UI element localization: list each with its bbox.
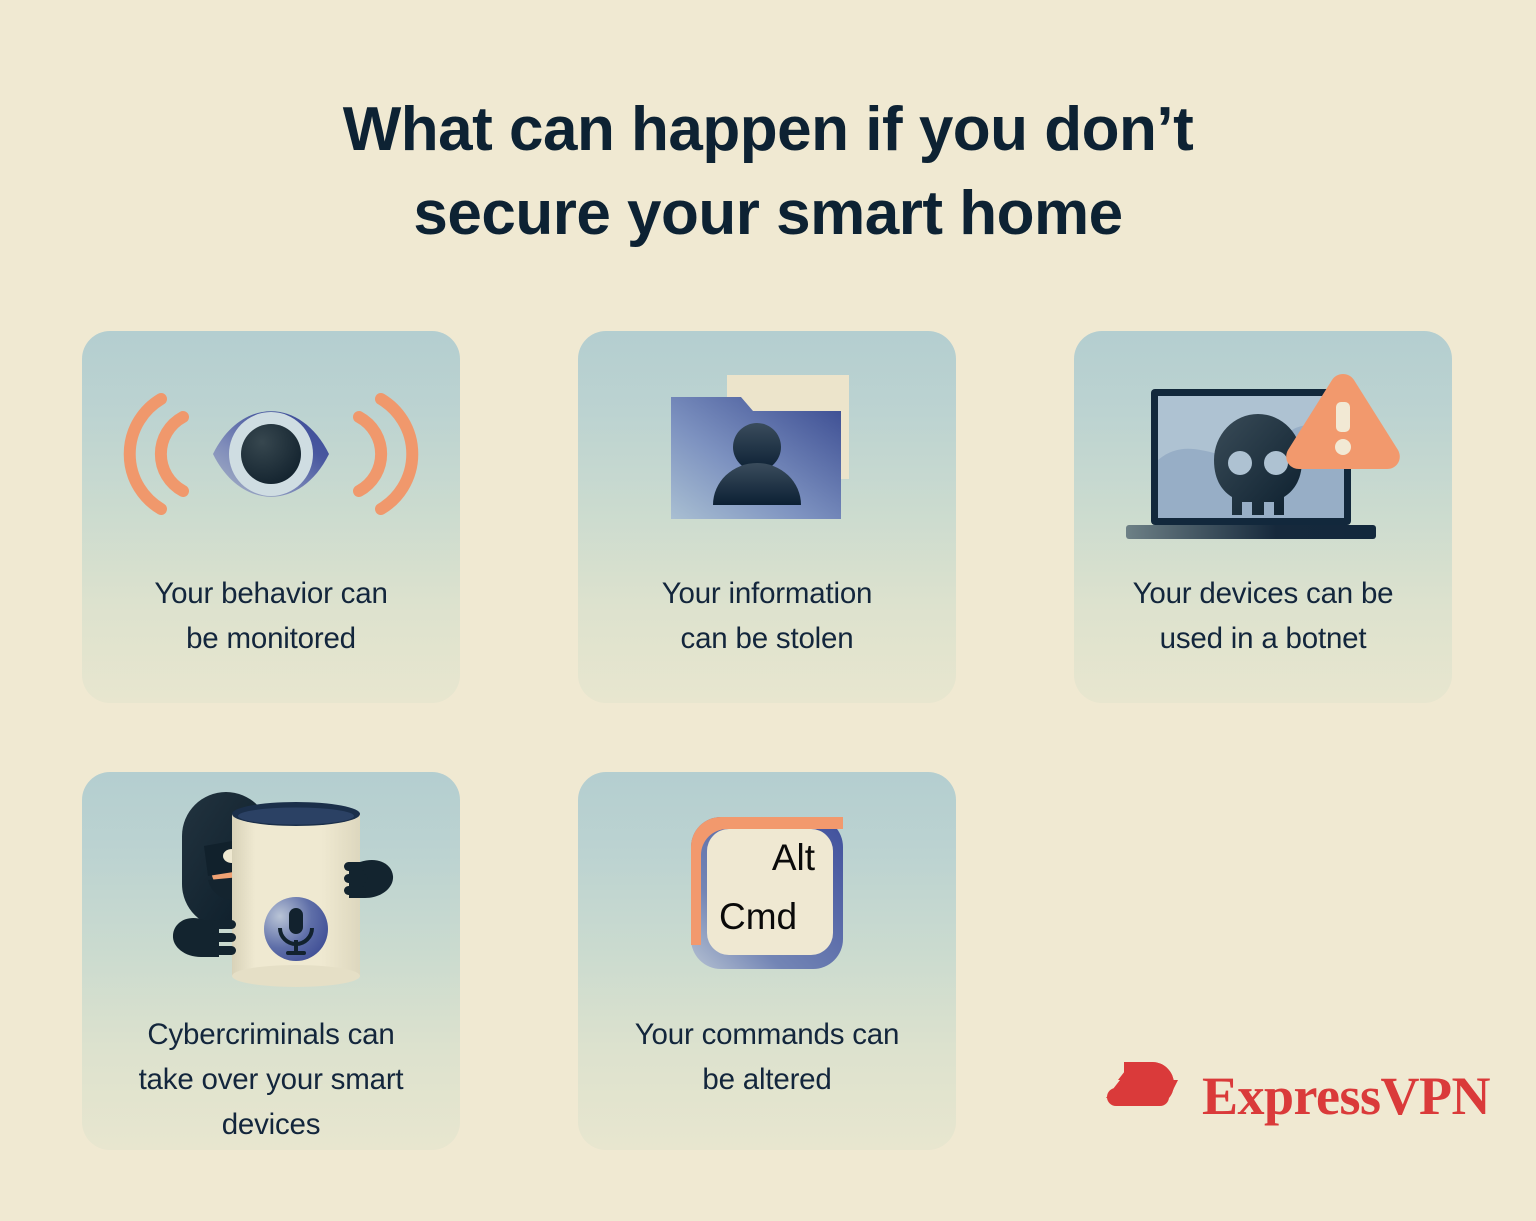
folder-personal-data-icon <box>578 331 956 571</box>
card-cybercriminals-takeover[interactable]: Cybercriminals can take over your smart … <box>82 772 460 1150</box>
key-label-top: Alt <box>772 837 816 878</box>
card-caption: Your information can be stolen <box>648 571 887 661</box>
laptop-malware-skull-icon <box>1074 331 1452 571</box>
card-commands-altered[interactable]: Alt Cmd Your commands can be altered <box>578 772 956 1150</box>
expressvpn-logo: ExpressVPN <box>1104 1058 1490 1133</box>
card-behavior-monitored[interactable]: Your behavior can be monitored <box>82 331 460 703</box>
cards-grid: Your behavior can be monitored <box>82 331 1454 1150</box>
burglar-smart-speaker-icon <box>82 772 460 1012</box>
card-caption: Cybercriminals can take over your smart … <box>125 1012 418 1147</box>
card-row-1: Your behavior can be monitored <box>82 331 1454 703</box>
card-information-stolen[interactable]: Your information can be stolen <box>578 331 956 703</box>
page-title: What can happen if you don’t secure your… <box>0 88 1536 256</box>
keyboard-key-icon: Alt Cmd <box>578 772 956 1012</box>
expressvpn-wordmark: ExpressVPN <box>1202 1069 1490 1123</box>
key-label-bottom: Cmd <box>719 896 797 937</box>
card-devices-botnet[interactable]: Your devices can be used in a botnet <box>1074 331 1452 703</box>
card-caption: Your commands can be altered <box>621 1012 913 1102</box>
surveillance-eye-icon <box>82 331 460 571</box>
card-caption: Your devices can be used in a botnet <box>1119 571 1408 661</box>
card-caption: Your behavior can be monitored <box>140 571 401 661</box>
expressvpn-e-mark-icon <box>1104 1058 1182 1133</box>
